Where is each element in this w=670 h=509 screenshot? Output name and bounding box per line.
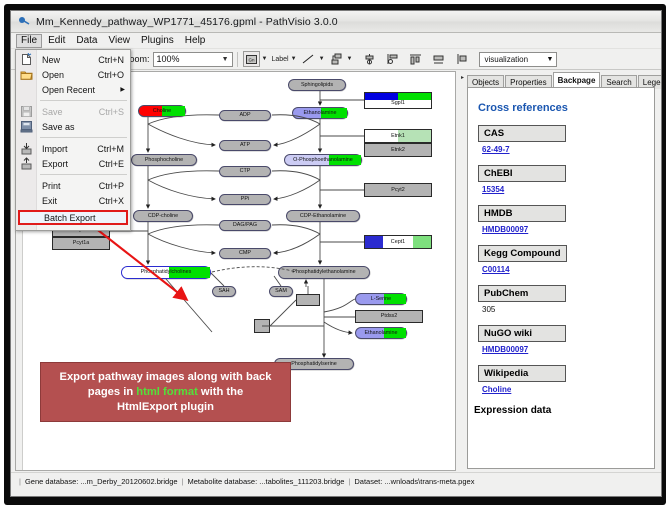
menu-bar[interactable]: File Edit Data View Plugins Help [11,33,661,49]
annotation-line1: Export pathway images along with back [60,371,272,383]
open-folder-icon [20,68,33,81]
node-label: Phosphatidylcholines [141,269,192,276]
xref-link[interactable]: HMDB00097 [482,345,654,354]
screenshot-root: Mm_Kennedy_pathway_WP1771_45176.gpml - P… [0,0,670,509]
menu-divider [40,174,127,175]
menu-view[interactable]: View [103,34,135,48]
annotation-line2-b: with the [198,386,243,398]
node-label: Choline [153,108,171,115]
xref-hmdb: HMDB HMDB00097 [478,203,654,234]
backpage-panel: Cross references CAS 62-49-7 ChEBI 15354… [467,87,655,469]
menu-file[interactable]: File [16,34,42,48]
node-label: Etnk2 [391,147,405,154]
menu-item-label: Exit [42,196,57,206]
node-label: Sphingolipids [301,82,333,89]
pathvisio-window: Mm_Kennedy_pathway_WP1771_45176.gpml - P… [10,10,662,497]
xref-link[interactable]: C00114 [482,265,654,274]
menu-item-open-recent[interactable]: Open Recent ▶ [16,82,130,97]
node-label: Sgpl1 [365,100,431,107]
chevron-right-icon: ▶ [120,86,125,93]
menu-item-accelerator: Ctrl+N [98,55,124,65]
export-icon [20,157,33,170]
menu-item-accelerator: Ctrl+O [98,70,124,80]
node-label: DAG/PAG [233,222,257,229]
xref-link[interactable]: Choline [482,385,654,394]
node-label: CDP-Ethanolamine [300,213,346,220]
annotation-callout: Export pathway images along with back pa… [40,362,291,422]
menu-edit[interactable]: Edit [43,34,70,48]
import-icon [20,142,33,155]
menu-help[interactable]: Help [180,34,211,48]
annotation-line2-a: pages in [88,386,137,398]
xref-source-label: CAS [478,125,566,142]
menu-item-export[interactable]: Export Ctrl+E [16,156,130,171]
menu-item-new[interactable]: New Ctrl+N [16,52,130,67]
status-metabolite-database: Metabolite database: ...tabolites_111203… [188,477,345,486]
status-divider: | [19,477,21,486]
menu-divider [40,100,127,101]
node-label: Phosphatidylethanolamine [292,269,355,276]
status-dataset: Dataset: ...wnloads\trans-meta.pgex [354,477,474,486]
cross-references-heading: Cross references [478,102,654,114]
align-left-tool-icon[interactable] [384,51,400,67]
xref-source-label: PubChem [478,285,566,302]
pathvisio-icon [18,15,31,28]
sidebar-tabs[interactable]: Objects Properties Backpage Search Legen… [467,73,659,88]
zoom-value: 100% [157,54,180,64]
visualization-value: visualization [484,55,528,64]
visualization-combo[interactable]: visualization ▼ [479,52,557,67]
label-tool-icon[interactable]: Label [271,51,288,67]
menu-item-open[interactable]: Open Ctrl+O [16,67,130,82]
menu-item-accelerator: Ctrl+X [99,196,124,206]
node-label: Pcyt2 [391,187,404,194]
line-tool-icon[interactable] [301,51,317,67]
node-label: ADP [239,112,250,119]
menu-item-import[interactable]: Import Ctrl+M [16,141,130,156]
xref-link[interactable]: HMDB00097 [482,225,654,234]
menu-item-batch-export[interactable]: Batch Export [18,210,128,225]
tab-backpage[interactable]: Backpage [553,72,601,88]
label-dropdown-icon[interactable]: ▼ [291,56,297,62]
tab-scroll-icon[interactable]: ▸ [461,74,464,81]
file-menu-dropdown[interactable]: New Ctrl+N Open Ctrl+O Open Recent ▶ Sav… [15,49,131,231]
new-file-icon [20,53,33,66]
status-bar-content: | Gene database: ...m_Derby_20120602.bri… [15,475,657,488]
zoom-combo[interactable]: 100% ▼ [153,52,233,67]
node-label: CTP [240,168,251,175]
menu-item-label: Open [42,70,64,80]
xref-source-label: Kegg Compound [478,245,567,262]
node-label: Cept1 [391,239,405,246]
menu-item-label: Export [42,159,68,169]
sidebar-pane: ▸ Objects Properties Backpage Search Leg… [461,71,659,471]
node-label: PPi [241,196,249,203]
xref-source-label: Wikipedia [478,365,566,382]
status-divider: | [348,477,350,486]
status-divider: | [182,477,184,486]
node-label: Pcyt1a [73,240,89,247]
save-disk-icon [20,105,33,118]
node-label: SAM [275,288,287,295]
xref-wikipedia: Wikipedia Choline [478,363,654,394]
status-bar: | Gene database: ...m_Derby_20120602.bri… [11,472,661,496]
xref-cas: CAS 62-49-7 [478,123,654,154]
menu-item-accelerator: Ctrl+E [99,159,124,169]
stack-tool-icon[interactable] [453,51,469,67]
node-label: Ethanolamine [304,110,337,117]
anchor-tool-icon[interactable] [329,51,345,67]
node-label: Ptdss2 [381,313,397,320]
node-label: Ethanolamine [365,330,398,337]
annotation-highlight: html format [136,386,198,398]
node-sgpl1[interactable]: Sgpl1 [364,92,432,109]
node-label: SAH [218,288,229,295]
xref-source-label: NuGO wiki [478,325,566,342]
node-label: CDP-choline [148,213,178,220]
menu-item-label: Save as [42,122,75,132]
menu-divider [40,137,127,138]
menu-item-label: Save [42,107,63,117]
chevron-down-icon: ▼ [222,56,229,63]
annotation-text: Export pathway images along with back pa… [60,370,272,415]
toolbar-divider [237,52,238,67]
title-bar: Mm_Kennedy_pathway_WP1771_45176.gpml - P… [11,11,661,33]
xref-pubchem: PubChem 305 [478,283,654,314]
menu-plugins[interactable]: Plugins [136,34,179,48]
menu-item-accelerator: Ctrl+M [97,144,124,154]
annotation-line3: HtmlExport plugin [117,401,214,413]
gene-product-dropdown-icon[interactable]: ▼ [262,56,268,62]
node-label: Phosphocholine [145,157,183,164]
xref-kegg-compound: Kegg Compound C00114 [478,243,654,274]
chevron-down-icon: ▼ [547,56,554,63]
gene-product-tool-icon[interactable]: Gn [243,51,260,67]
node-label: L-Serine [371,296,391,303]
node-label: Phosphatidylserine [291,361,337,368]
node-label: Etnk1 [391,133,405,140]
common-width-tool-icon[interactable] [430,51,446,67]
line-dropdown-icon[interactable]: ▼ [319,56,325,62]
xref-source-label: HMDB [478,205,566,222]
menu-item-label: Batch Export [44,213,96,223]
menu-item-save: Save Ctrl+S [16,104,130,119]
menu-item-label: New [42,55,60,65]
menu-item-accelerator: Ctrl+S [99,107,124,117]
status-gene-database: Gene database: ...m_Derby_20120602.bridg… [25,477,178,486]
menu-item-print[interactable]: Print Ctrl+P [16,178,130,193]
node-label: O-Phosphoethanolamine [293,157,353,164]
menu-item-exit[interactable]: Exit Ctrl+X [16,193,130,208]
xref-source-label: ChEBI [478,165,566,182]
anchor-dropdown-icon[interactable]: ▼ [347,56,353,62]
svg-text:Gn: Gn [248,57,255,62]
align-top-tool-icon[interactable] [407,51,423,67]
window-title: Mm_Kennedy_pathway_WP1771_45176.gpml - P… [36,16,338,28]
menu-item-accelerator: Ctrl+P [99,181,124,191]
align-center-tool-icon[interactable] [361,51,377,67]
menu-data[interactable]: Data [71,34,102,48]
save-as-icon [20,120,33,133]
menu-item-label: Print [42,181,61,191]
xref-value: 305 [482,305,654,314]
node-label: ATP [240,142,250,149]
node-label: CMP [239,250,251,257]
menu-item-save-as[interactable]: Save as [16,119,130,134]
xref-nugo-wiki: NuGO wiki HMDB00097 [478,323,654,354]
xref-link[interactable]: 62-49-7 [482,145,654,154]
menu-item-label: Open Recent [42,85,95,95]
xref-chebi: ChEBI 15354 [478,163,654,194]
menu-item-label: Import [42,144,68,154]
expression-data-heading: Expression data [474,405,654,416]
xref-link[interactable]: 15354 [482,185,654,194]
